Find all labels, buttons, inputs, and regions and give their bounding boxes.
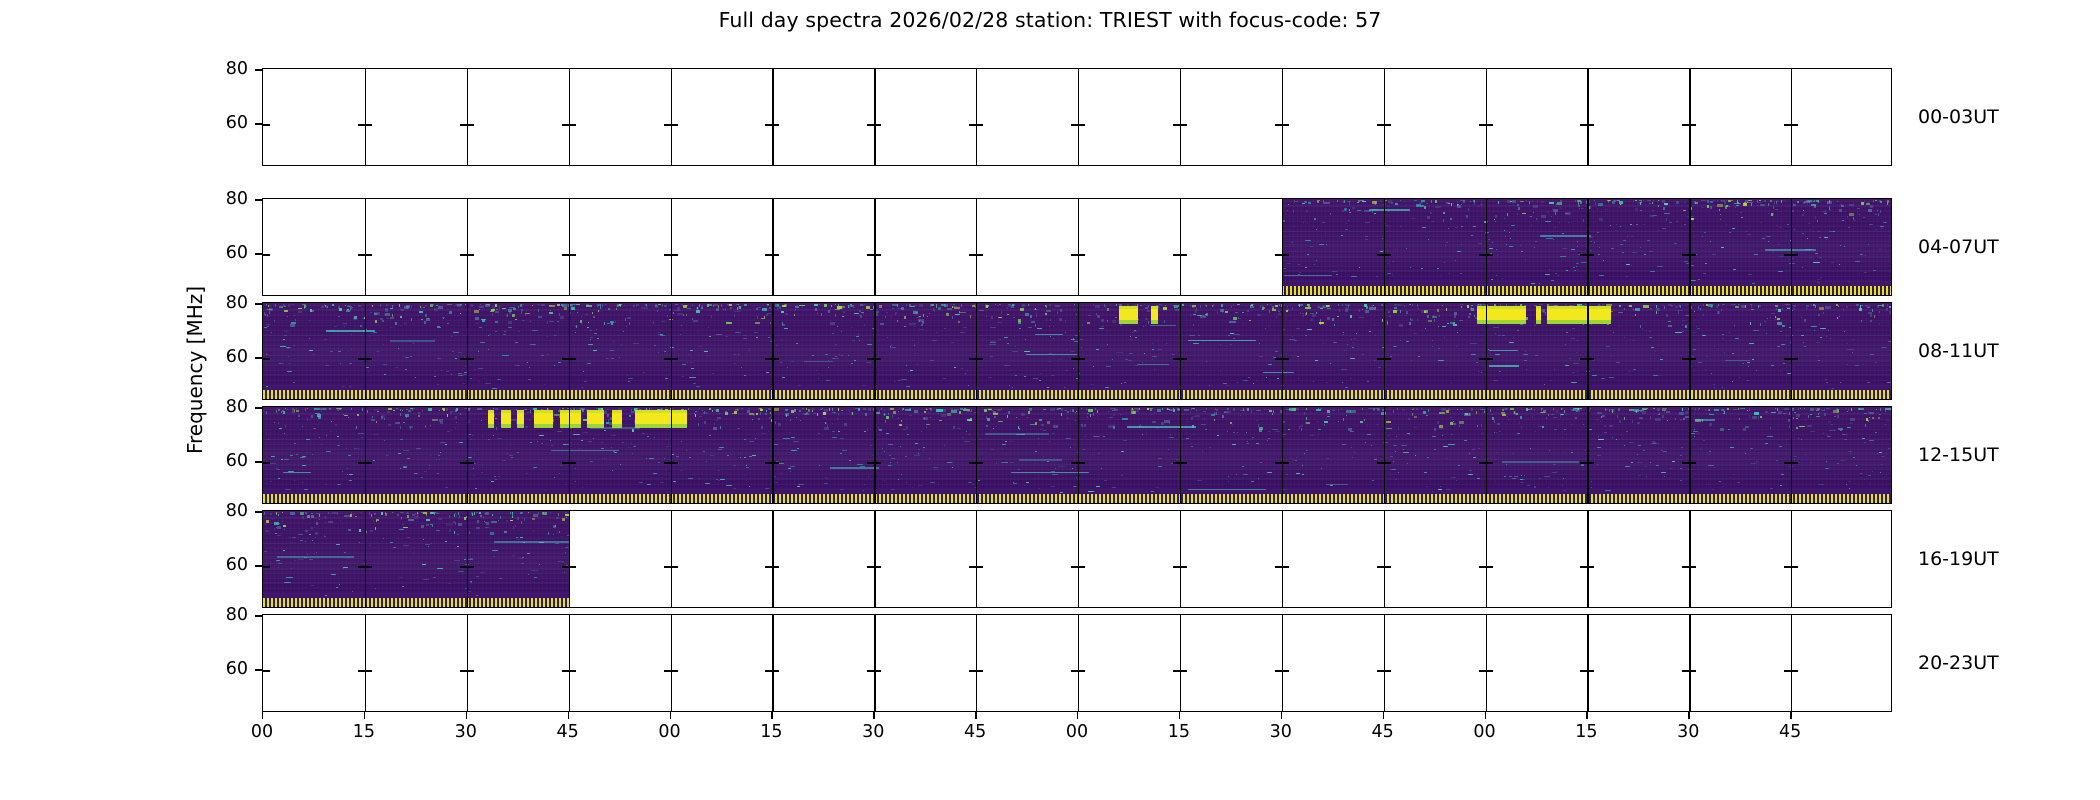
spectral-feature — [548, 532, 549, 535]
spectral-feature — [1216, 409, 1218, 411]
spectral-feature — [755, 438, 756, 439]
spectral-feature — [909, 323, 916, 325]
spectral-feature — [930, 482, 935, 483]
spectral-feature — [1259, 343, 1260, 344]
spectral-feature — [388, 424, 391, 426]
spectral-feature — [665, 378, 668, 379]
spectral-feature — [1826, 461, 1827, 462]
spectral-feature — [744, 304, 747, 306]
spectral-feature — [959, 312, 966, 313]
spectral-feature — [696, 386, 700, 387]
spectral-feature — [1609, 409, 1610, 412]
spectral-feature — [1230, 422, 1232, 424]
spectral-feature — [1031, 321, 1035, 323]
spectral-feature — [348, 311, 349, 312]
spectral-feature — [995, 408, 996, 410]
spectral-feature — [655, 305, 658, 308]
spectral-feature — [1527, 485, 1530, 486]
spectral-feature — [674, 310, 681, 311]
spectral-feature — [1584, 304, 1589, 306]
spectral-feature — [296, 454, 298, 455]
spectral-feature — [1690, 265, 1694, 266]
spectrogram-bottom-stripe — [263, 494, 1891, 503]
spectral-feature — [1479, 448, 1480, 449]
spectral-feature — [1765, 411, 1768, 413]
spectral-feature — [1571, 222, 1572, 223]
spectral-feature — [1438, 348, 1440, 349]
spectral-feature — [1550, 380, 1552, 381]
spectral-feature — [1256, 380, 1257, 381]
spectral-feature — [581, 323, 582, 325]
spectral-feature — [1365, 442, 1366, 443]
spectral-feature — [735, 332, 741, 333]
spectral-feature — [1001, 311, 1002, 314]
spectral-feature — [516, 539, 520, 540]
spectral-feature — [1662, 228, 1666, 229]
spectral-feature — [1372, 201, 1377, 204]
spectral-feature — [298, 415, 300, 417]
spectral-feature — [373, 460, 375, 461]
spectral-feature — [344, 552, 346, 553]
spectral-feature — [1433, 315, 1434, 317]
spectral-feature — [1411, 360, 1412, 361]
spectral-streak — [1369, 209, 1410, 211]
spectral-feature — [699, 346, 702, 347]
spectral-feature — [372, 305, 373, 307]
spectral-feature — [383, 344, 384, 345]
spectral-feature — [381, 512, 383, 515]
spectral-feature — [1268, 438, 1270, 439]
spectral-feature — [430, 512, 431, 514]
spectral-feature — [566, 565, 568, 566]
spectral-feature — [1145, 318, 1148, 320]
spectral-feature — [1332, 271, 1337, 272]
spectral-feature — [1495, 215, 1497, 218]
spectral-feature — [673, 312, 674, 314]
spectral-feature — [1521, 426, 1522, 429]
spectral-feature — [729, 304, 732, 306]
spectral-feature — [1161, 304, 1162, 306]
spectral-feature — [1274, 309, 1276, 311]
spectral-feature — [301, 512, 303, 515]
spectral-feature — [1878, 417, 1880, 419]
spectral-feature — [449, 529, 451, 532]
spectral-feature — [1428, 320, 1432, 322]
spectral-feature — [1743, 367, 1744, 368]
spectral-feature — [278, 422, 279, 424]
spectral-feature — [1164, 320, 1165, 323]
spectral-feature — [1275, 351, 1278, 352]
spectral-feature — [689, 377, 696, 378]
spectral-feature — [468, 457, 472, 458]
spectral-feature — [824, 409, 828, 412]
spectral-feature — [434, 376, 436, 377]
block-y-tick — [1486, 670, 1493, 671]
spectral-feature — [1658, 205, 1659, 207]
spectrogram-image — [263, 511, 569, 607]
spectral-feature — [670, 304, 671, 305]
spectral-feature — [1829, 207, 1830, 210]
spectral-feature — [1253, 383, 1254, 384]
spectral-feature — [808, 409, 810, 412]
spectral-feature — [349, 480, 352, 481]
spectral-feature — [1074, 304, 1075, 305]
spectral-feature — [1663, 350, 1664, 351]
spectral-feature — [576, 408, 583, 411]
spectral-feature — [1025, 339, 1026, 340]
spectral-feature — [1026, 482, 1029, 483]
spectral-feature — [1588, 429, 1592, 430]
x-tick-label: 15 — [760, 722, 782, 742]
spectral-feature — [1554, 369, 1555, 370]
spectral-feature — [610, 350, 614, 351]
spectral-feature — [584, 381, 587, 382]
spectral-feature — [447, 414, 448, 417]
spectral-feature — [1028, 304, 1029, 306]
spectral-feature — [1012, 351, 1018, 352]
spectral-feature — [388, 408, 392, 410]
spectral-feature — [725, 308, 726, 311]
spectral-feature — [1789, 466, 1793, 467]
block-y-tick — [976, 124, 983, 125]
spectral-feature — [321, 409, 322, 412]
spectral-feature — [276, 410, 277, 413]
spectral-feature — [1504, 218, 1505, 219]
spectral-feature — [1035, 451, 1037, 452]
spectral-feature — [1236, 474, 1237, 475]
spectral-feature — [829, 408, 830, 411]
spectral-feature — [1437, 421, 1439, 424]
spectral-feature — [1341, 369, 1347, 370]
spectral-feature — [1762, 238, 1765, 239]
spectral-feature — [594, 333, 597, 334]
x-tick-mark — [1485, 712, 1486, 719]
spectral-feature — [401, 309, 404, 311]
spectral-feature — [406, 450, 409, 451]
spectral-feature — [886, 416, 889, 419]
spectral-feature — [747, 410, 750, 413]
spectral-feature — [766, 372, 769, 373]
spectral-feature — [1886, 282, 1887, 283]
spectral-feature — [1782, 325, 1785, 327]
spectral-feature — [309, 338, 310, 339]
spectral-feature — [897, 308, 904, 309]
spectral-feature — [458, 523, 462, 526]
spectral-feature — [405, 414, 409, 417]
spectral-feature — [944, 445, 945, 446]
saturated-emission-band — [560, 413, 581, 424]
spectral-feature — [1025, 313, 1029, 316]
block-separator — [976, 511, 977, 607]
spectral-feature — [618, 408, 622, 410]
spectral-feature — [1242, 466, 1244, 467]
spectral-feature — [1850, 453, 1851, 454]
spectral-feature — [1323, 343, 1324, 344]
spectral-feature — [1234, 334, 1240, 335]
spectral-feature — [1324, 421, 1328, 423]
spectral-feature — [1690, 306, 1692, 309]
spectral-feature — [1682, 324, 1683, 326]
spectral-feature — [408, 410, 411, 412]
spectral-feature — [1363, 202, 1364, 204]
spectral-feature — [400, 316, 402, 318]
spectrogram-bottom-stripe — [263, 390, 1891, 399]
block-separator — [1791, 69, 1792, 165]
spectral-feature — [1650, 462, 1651, 463]
block-y-tick — [1486, 566, 1493, 567]
spectrogram-image — [263, 303, 1891, 399]
spectral-feature — [1135, 337, 1137, 338]
spectral-feature — [854, 313, 859, 314]
block-y-tick — [569, 124, 576, 125]
spectral-feature — [283, 339, 285, 340]
spectral-feature — [1683, 463, 1686, 464]
spectrogram-panel-12-15ut — [262, 406, 1892, 504]
spectral-feature — [757, 316, 758, 319]
spectral-feature — [1343, 418, 1344, 421]
spectral-feature — [1531, 283, 1535, 284]
spectral-feature — [1806, 307, 1807, 308]
spectral-feature — [474, 310, 479, 313]
spectral-feature — [469, 434, 471, 435]
spectral-feature — [1342, 382, 1343, 383]
spectral-feature — [369, 336, 370, 337]
spectral-feature — [1081, 424, 1083, 427]
spectral-feature — [325, 595, 327, 596]
block-y-tick — [1275, 566, 1282, 567]
block-y-tick — [263, 254, 270, 255]
spectral-feature — [1393, 410, 1394, 413]
spectral-feature — [1197, 480, 1202, 481]
spectral-feature — [1698, 306, 1699, 309]
spectral-feature — [1278, 313, 1281, 315]
spectral-feature — [1565, 213, 1569, 214]
spectral-feature — [1830, 209, 1831, 211]
spectral-feature — [1863, 364, 1864, 365]
spectral-feature — [1229, 321, 1236, 323]
spectral-feature — [1011, 305, 1014, 308]
spectral-feature — [1879, 200, 1881, 202]
spectral-feature — [824, 304, 827, 307]
spectral-feature — [1137, 304, 1138, 307]
spectral-feature — [509, 455, 513, 456]
block-y-tick — [969, 566, 976, 567]
spectral-feature — [1526, 408, 1528, 411]
spectral-feature — [1050, 336, 1051, 337]
spectral-feature — [1838, 428, 1843, 430]
spectral-feature — [1733, 474, 1734, 475]
spectral-feature — [779, 306, 781, 309]
spectral-feature — [1526, 200, 1527, 201]
block-y-tick — [1587, 670, 1594, 671]
spectral-feature — [1810, 257, 1812, 258]
spectral-feature — [290, 455, 293, 456]
spectral-feature — [415, 513, 416, 515]
spectral-feature — [541, 355, 544, 356]
spectral-feature — [1632, 252, 1637, 253]
spectral-feature — [649, 305, 650, 306]
spectral-feature — [390, 361, 391, 362]
spectral-feature — [295, 319, 296, 321]
spectral-feature — [1746, 351, 1747, 352]
spectral-feature — [508, 321, 512, 324]
spectral-feature — [277, 526, 281, 529]
spectral-feature — [914, 410, 918, 413]
spectral-feature — [1594, 200, 1595, 201]
spectral-feature — [573, 434, 580, 435]
spectral-feature — [870, 445, 872, 446]
spectral-feature — [1375, 335, 1376, 336]
spectral-feature — [1430, 212, 1432, 214]
spectral-feature — [926, 427, 927, 428]
block-y-tick — [671, 670, 678, 671]
spectral-feature — [1108, 425, 1115, 428]
spectral-feature — [1386, 421, 1391, 423]
block-y-tick — [772, 670, 779, 671]
spectral-feature — [1381, 304, 1383, 306]
spectral-feature — [705, 483, 710, 484]
spectral-feature — [1327, 410, 1330, 413]
spectral-feature — [1825, 306, 1831, 309]
spectral-feature — [1791, 304, 1792, 305]
spectral-feature — [1404, 200, 1405, 202]
block-separator — [1078, 69, 1079, 165]
spectral-feature — [588, 344, 593, 345]
spectral-feature — [1342, 304, 1343, 306]
spectral-feature — [1829, 231, 1835, 232]
spectral-feature — [1345, 229, 1348, 230]
spectral-feature — [1625, 466, 1630, 467]
spectral-feature — [921, 324, 923, 326]
spectral-feature — [332, 304, 334, 306]
block-y-tick — [664, 254, 671, 255]
spectral-feature — [1214, 419, 1215, 421]
spectral-feature — [278, 563, 282, 564]
spectral-feature — [1112, 320, 1116, 323]
spectral-feature — [1810, 414, 1812, 415]
spectral-feature — [1778, 271, 1783, 272]
spectral-feature — [408, 519, 414, 521]
spectral-feature — [1349, 202, 1350, 205]
spectral-feature — [1859, 273, 1860, 274]
spectral-feature — [1343, 332, 1344, 333]
spectral-feature — [1424, 206, 1426, 209]
spectral-feature — [718, 449, 722, 450]
spectral-feature — [1422, 227, 1426, 228]
spectral-feature — [1397, 408, 1398, 410]
spectral-feature — [1803, 342, 1804, 343]
spectral-feature — [720, 479, 725, 480]
spectral-feature — [401, 517, 402, 519]
spectral-feature — [1070, 351, 1075, 352]
spectral-feature — [1817, 279, 1821, 280]
spectral-feature — [876, 313, 878, 316]
spectral-feature — [1145, 307, 1148, 309]
spectral-streak — [1326, 484, 1348, 486]
spectral-feature — [586, 304, 589, 307]
spectral-feature — [943, 378, 946, 379]
block-separator — [772, 615, 773, 711]
spectral-feature — [952, 306, 957, 308]
spectral-feature — [1637, 422, 1640, 424]
spectral-feature — [404, 322, 406, 325]
spectral-feature — [1169, 423, 1170, 424]
spectral-feature — [1109, 417, 1113, 418]
spectral-feature — [266, 324, 270, 325]
saturated-emission-band — [612, 413, 622, 424]
spectral-feature — [1709, 454, 1710, 455]
spectral-feature — [1251, 306, 1254, 308]
spectral-streak — [1026, 354, 1077, 356]
spectral-feature — [468, 408, 470, 411]
spectral-feature — [1451, 477, 1456, 478]
spectral-feature — [284, 335, 287, 336]
spectral-feature — [1817, 220, 1818, 222]
spectral-feature — [726, 485, 732, 486]
block-separator — [569, 199, 570, 295]
spectral-feature — [382, 320, 384, 322]
spectral-feature — [805, 413, 809, 415]
spectral-feature — [1565, 304, 1567, 306]
spectral-feature — [709, 408, 711, 410]
spectral-feature — [1101, 326, 1104, 327]
spectral-feature — [1078, 328, 1079, 329]
spectral-feature — [785, 409, 788, 411]
spectral-feature — [276, 408, 281, 409]
spectral-feature — [1819, 257, 1822, 258]
spectral-streak — [283, 472, 311, 474]
spectral-feature — [445, 541, 447, 542]
spectral-feature — [1556, 410, 1558, 413]
spectral-feature — [1348, 220, 1349, 221]
spectral-feature — [1643, 224, 1645, 225]
block-y-tick — [569, 566, 576, 567]
spectral-feature — [377, 519, 379, 521]
spectral-feature — [559, 473, 560, 474]
spectral-feature — [1365, 310, 1369, 313]
spectral-feature — [1039, 488, 1040, 489]
spectral-feature — [1192, 416, 1196, 417]
spectral-feature — [357, 414, 359, 416]
spectral-feature — [620, 304, 622, 305]
spectral-feature — [627, 317, 631, 319]
spectral-feature — [964, 441, 970, 442]
spectral-feature — [923, 447, 925, 448]
spectral-feature — [497, 379, 501, 380]
spectral-streak — [590, 427, 639, 429]
block-y-tick — [1784, 566, 1791, 567]
spectral-feature — [447, 304, 452, 305]
block-separator — [1282, 69, 1283, 165]
spectral-streak — [277, 556, 353, 558]
spectral-feature — [492, 313, 493, 316]
spectral-feature — [1868, 312, 1872, 314]
spectral-feature — [264, 327, 267, 328]
spectral-feature — [1076, 378, 1078, 379]
spectral-feature — [279, 523, 280, 524]
spectral-feature — [1683, 210, 1686, 211]
spectral-feature — [1493, 327, 1499, 328]
spectral-feature — [437, 326, 440, 327]
saturated-emission-band — [1547, 309, 1611, 320]
spectral-feature — [1743, 363, 1744, 364]
spectral-feature — [549, 305, 552, 306]
spectral-feature — [848, 355, 849, 356]
spectral-feature — [366, 531, 367, 533]
spectral-feature — [1826, 336, 1827, 337]
spectral-feature — [1018, 319, 1021, 322]
block-y-tick — [1180, 670, 1187, 671]
